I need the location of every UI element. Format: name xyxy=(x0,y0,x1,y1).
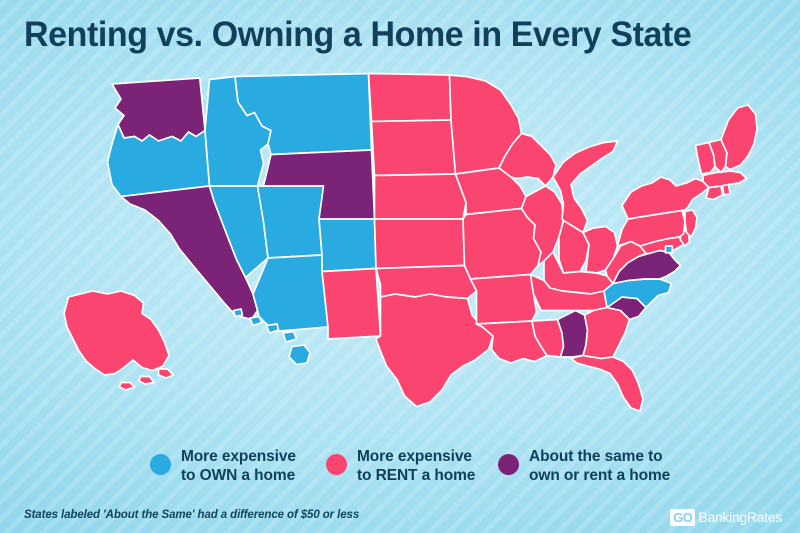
page-title: Renting vs. Owning a Home in Every State xyxy=(24,14,761,56)
state-GA[interactable] xyxy=(583,308,630,359)
state-AR[interactable] xyxy=(471,275,537,325)
legend: More expensive to OWN a home More expens… xyxy=(0,448,800,494)
state-NJ[interactable] xyxy=(685,210,697,237)
state-KS[interactable] xyxy=(375,219,465,269)
state-NM[interactable] xyxy=(322,269,381,340)
state-SD[interactable] xyxy=(372,120,456,176)
legend-item-rent[interactable]: More expensive to RENT a home xyxy=(326,448,475,485)
legend-swatch-own-icon xyxy=(150,454,171,475)
state-DC[interactable] xyxy=(666,246,673,253)
infographic-page: Renting vs. Owning a Home in Every State xyxy=(0,0,800,533)
legend-label-own-line1: More expensive xyxy=(181,448,296,465)
gobankingrates-logo[interactable]: GO BankingRates xyxy=(670,508,782,526)
legend-label-rent-line2: to RENT a home xyxy=(357,467,475,484)
legend-label-same-line2: own or rent a home xyxy=(529,467,670,484)
legend-item-same[interactable]: About the same to own or rent a home xyxy=(498,448,670,485)
legend-swatch-same-icon xyxy=(498,454,519,475)
legend-label-same: About the same to own or rent a home xyxy=(529,448,670,485)
legend-swatch-rent-icon xyxy=(326,454,347,475)
state-CO[interactable] xyxy=(319,219,376,272)
state-WA[interactable] xyxy=(112,78,205,141)
state-AK[interactable] xyxy=(64,291,174,390)
state-OK[interactable] xyxy=(376,266,477,299)
legend-label-rent: More expensive to RENT a home xyxy=(357,448,475,485)
state-UT[interactable] xyxy=(258,186,324,258)
logo-wordmark: BankingRates xyxy=(698,510,782,525)
state-NY[interactable] xyxy=(622,177,709,219)
state-AZ[interactable] xyxy=(253,255,328,332)
state-FL[interactable] xyxy=(571,356,643,412)
footnote: States labeled 'About the Same' had a di… xyxy=(24,508,359,522)
state-ME[interactable] xyxy=(721,105,757,170)
us-choropleth-map xyxy=(46,72,766,432)
logo-mark: GO xyxy=(670,509,695,526)
state-AL[interactable] xyxy=(558,311,588,358)
legend-label-rent-line1: More expensive xyxy=(357,448,472,465)
legend-label-own: More expensive to OWN a home xyxy=(181,448,296,485)
state-NE[interactable] xyxy=(375,174,467,219)
state-TX[interactable] xyxy=(376,294,493,407)
state-ND[interactable] xyxy=(369,74,452,122)
legend-item-own[interactable]: More expensive to OWN a home xyxy=(150,448,296,485)
us-map-svg xyxy=(46,72,766,432)
legend-label-same-line1: About the same to xyxy=(529,448,663,465)
legend-label-own-line2: to OWN a home xyxy=(181,467,295,484)
state-MI[interactable] xyxy=(553,141,618,233)
states-layer xyxy=(64,74,757,412)
